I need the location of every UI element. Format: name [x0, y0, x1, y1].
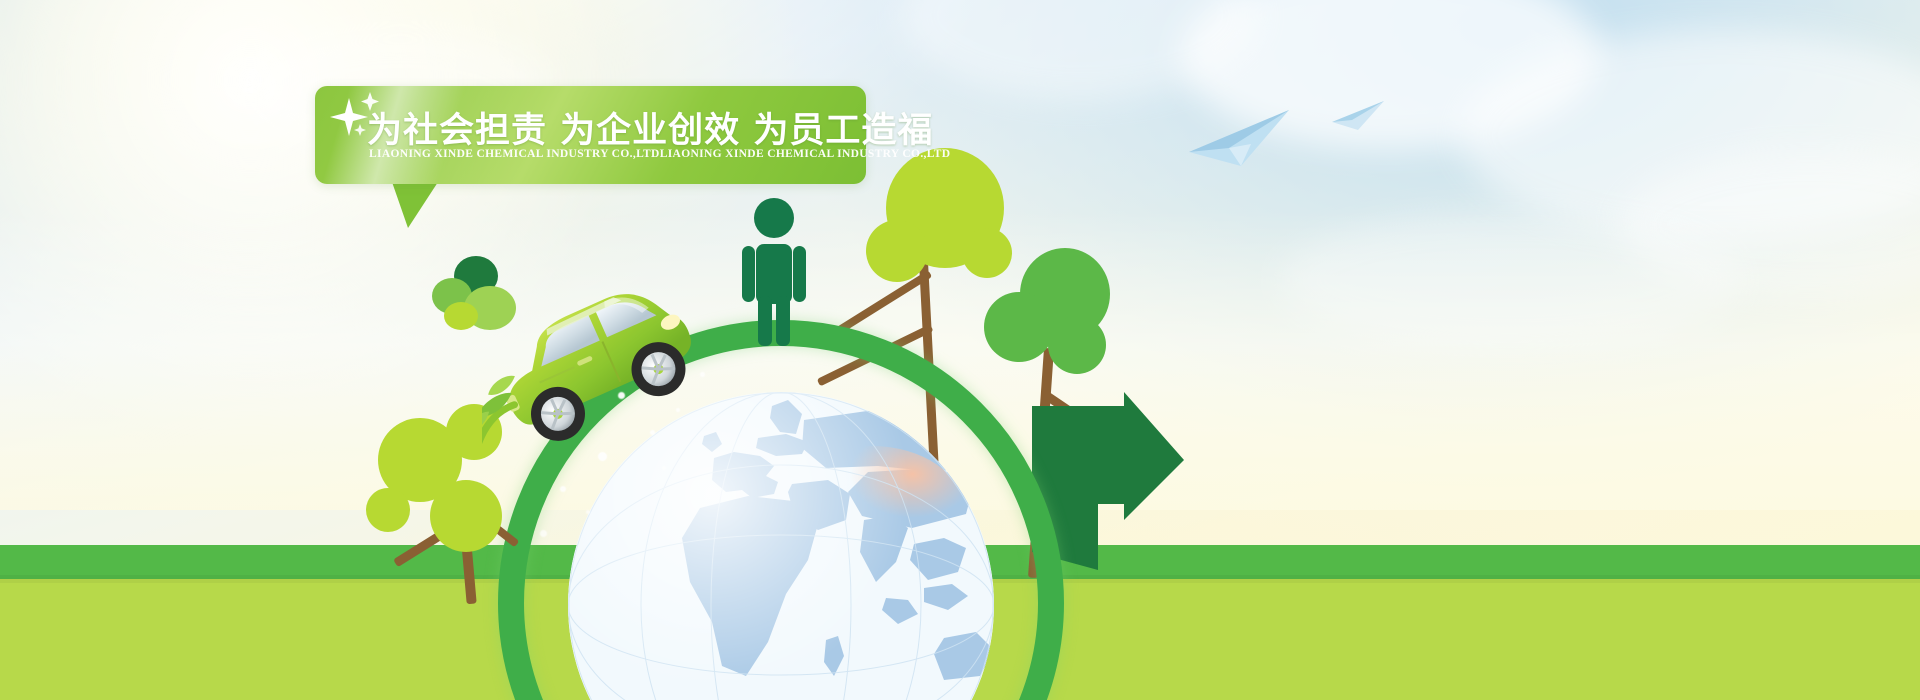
- banner-scene: 为社会担责 为企业创效 为员工造福 LIAONING XINDE CHEMICA…: [0, 0, 1920, 700]
- tree-canopy: [866, 220, 928, 282]
- paper-plane-icon: [1330, 98, 1386, 132]
- banner-subline: LIAONING XINDE CHEMICAL INDUSTRY CO.,LTD…: [369, 148, 858, 160]
- sparkle-dot: [598, 452, 607, 461]
- headline-banner: 为社会担责 为企业创效 为员工造福 LIAONING XINDE CHEMICA…: [315, 86, 866, 184]
- banner-headline: 为社会担责 为企业创效 为员工造福: [367, 102, 856, 153]
- tree-canopy: [430, 480, 502, 552]
- tree-canopy: [1048, 316, 1106, 374]
- electric-car-icon: [482, 292, 704, 452]
- sparkle-dot: [662, 466, 666, 470]
- tree-canopy: [444, 302, 478, 330]
- sparkle-dot: [586, 510, 590, 514]
- tree-canopy: [366, 488, 410, 532]
- person-figure-icon: [742, 198, 806, 346]
- tree-canopy: [984, 292, 1054, 362]
- speech-bubble-tail: [392, 182, 438, 228]
- paper-plane-icon: [1185, 104, 1295, 170]
